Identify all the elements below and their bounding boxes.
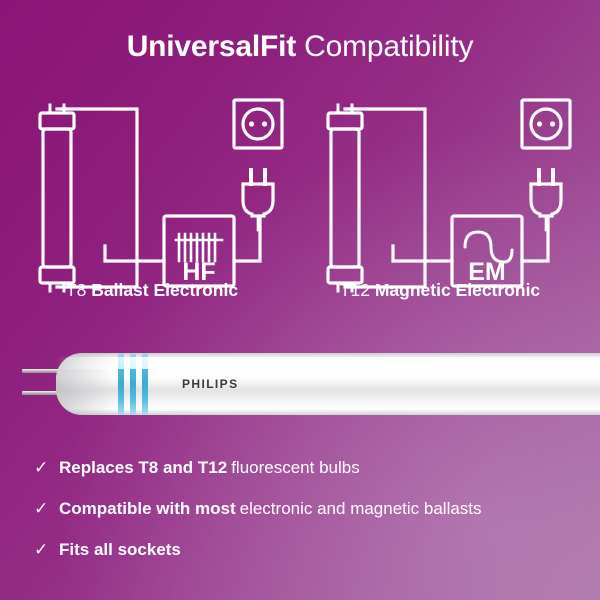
coil-winding-icon [176,234,222,261]
product-infographic: UniversalFit Compatibility [0,0,600,600]
caption-pre-t8: T8 [66,280,86,300]
tube-pin-top [22,369,60,373]
feature-light-text: fluorescent bulbs [227,458,360,478]
caption-main-t12: Magnetic Electronic [375,280,540,300]
feature-light-text: electronic and magnetic ballasts [236,499,482,519]
power-socket-icon [522,100,570,148]
feature-strong-text: Replaces T8 and T12 [59,458,227,478]
feature-list: ✓ Replaces T8 and T12 fluorescent bulbs … [34,458,584,581]
tube-cyan-ring-1 [118,353,124,415]
title-light: Compatibility [304,30,473,63]
check-icon: ✓ [34,500,54,517]
page-title: UniversalFit Compatibility [0,30,600,64]
power-socket-icon [234,100,282,148]
title-strong: UniversalFit [127,30,296,63]
check-icon: ✓ [34,541,54,558]
wiring-path [345,109,548,287]
feature-strong-text: Fits all sockets [59,540,181,560]
diagram-t8-caption: T8 Ballast Electronic [12,280,292,301]
caption-pre-t12: T12 [340,280,370,300]
power-plug-icon [531,170,561,230]
tube-cyan-ring-3 [142,353,148,415]
check-icon: ✓ [34,459,54,476]
tube-end-cap [56,353,114,415]
product-led-tube: PHILIPS [0,345,600,425]
power-plug-icon [243,170,273,230]
tube-body: PHILIPS [56,353,600,415]
feature-item: ✓ Replaces T8 and T12 fluorescent bulbs [34,458,584,478]
t12-tube-icon [328,105,362,291]
caption-main-t8: Ballast Electronic [91,280,238,300]
feature-strong-text: Compatible with most [59,499,236,519]
tube-pin-bottom [22,391,60,395]
feature-item: ✓ Fits all sockets [34,540,584,560]
diagram-t8: HF [12,88,292,308]
feature-item: ✓ Compatible with most electronic and ma… [34,499,584,519]
diagram-t12-caption: T12 Magnetic Electronic [300,280,580,301]
philips-brand-mark: PHILIPS [182,377,238,391]
t8-tube-icon [40,105,74,291]
tube-cyan-ring-2 [130,353,136,415]
wiring-path [57,109,260,287]
diagram-t12: EM [300,88,580,308]
